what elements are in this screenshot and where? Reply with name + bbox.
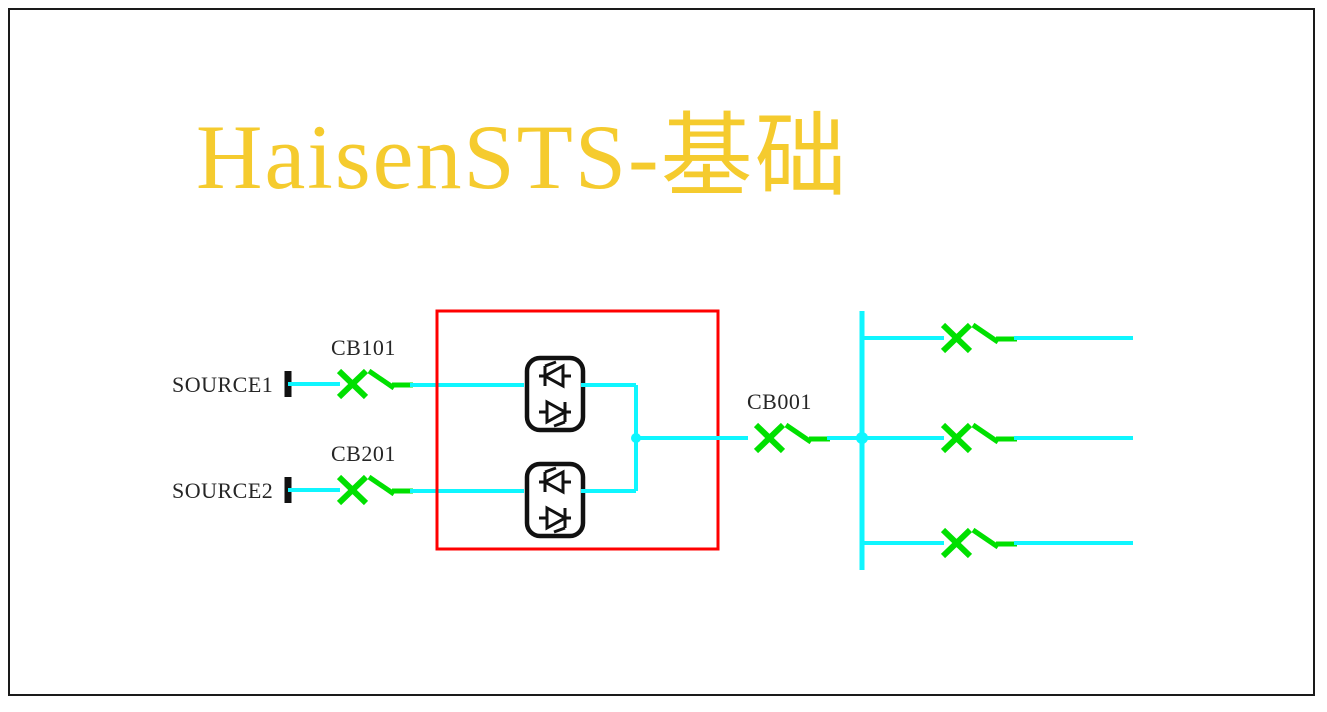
cb101-switch[interactable]	[369, 371, 413, 388]
feeder-3-switch[interactable]	[973, 530, 1017, 547]
cb101-label: CB101	[331, 335, 396, 360]
cb001-breaker[interactable]: CB001	[747, 389, 862, 451]
cb001-switch[interactable]	[786, 425, 830, 442]
feeder-1-switch[interactable]	[973, 325, 1017, 342]
cb101-disconnector-icon[interactable]	[339, 371, 366, 397]
source1-branch: SOURCE1 CB101	[172, 335, 524, 397]
diagram-canvas: HaisenSTS-基础 SOURCE1 CB101	[0, 0, 1327, 712]
source2-branch: SOURCE2 CB201	[172, 441, 524, 503]
feeder-1-disconnector-icon[interactable]	[943, 325, 970, 351]
cb201-disconnector-icon[interactable]	[339, 477, 366, 503]
feeder-2-switch[interactable]	[973, 425, 1017, 442]
feeder-1[interactable]	[862, 325, 1133, 351]
main-busbar[interactable]	[856, 311, 868, 570]
source2-label: SOURCE2	[172, 478, 273, 503]
cb001-disconnector-icon[interactable]	[756, 425, 783, 451]
feeder-2-disconnector-icon[interactable]	[943, 425, 970, 451]
single-line-diagram: HaisenSTS-基础 SOURCE1 CB101	[0, 0, 1327, 712]
sts-output-wiring	[581, 385, 748, 491]
feeder-2[interactable]	[862, 425, 1133, 451]
page-title: HaisenSTS-基础	[196, 106, 849, 208]
cb201-switch[interactable]	[369, 477, 413, 494]
cb001-label: CB001	[747, 389, 812, 414]
feeder-3-disconnector-icon[interactable]	[943, 530, 970, 556]
feeder-3[interactable]	[862, 530, 1133, 556]
source1-label: SOURCE1	[172, 372, 273, 397]
sts-upper-device[interactable]	[527, 358, 583, 430]
cb201-label: CB201	[331, 441, 396, 466]
sts-lower-device[interactable]	[527, 464, 583, 536]
